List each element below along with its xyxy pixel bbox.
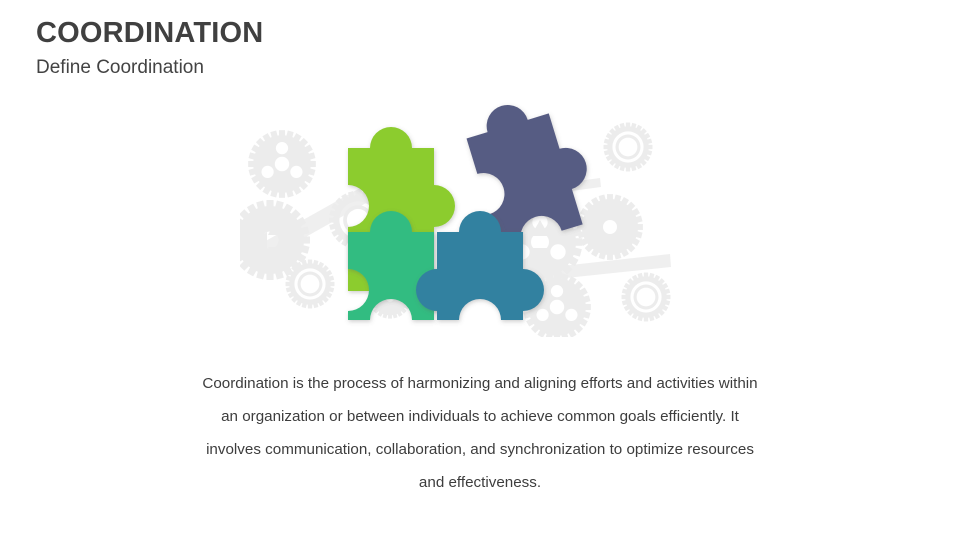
- slide-canvas: COORDINATION Define Coordination: [0, 0, 960, 540]
- page-subtitle: Define Coordination: [36, 55, 796, 81]
- slide-header: COORDINATION Define Coordination: [36, 16, 796, 81]
- page-title: COORDINATION: [36, 16, 796, 50]
- body-paragraph: Coordination is the process of harmonizi…: [200, 367, 760, 499]
- puzzle-illustration: [240, 92, 680, 337]
